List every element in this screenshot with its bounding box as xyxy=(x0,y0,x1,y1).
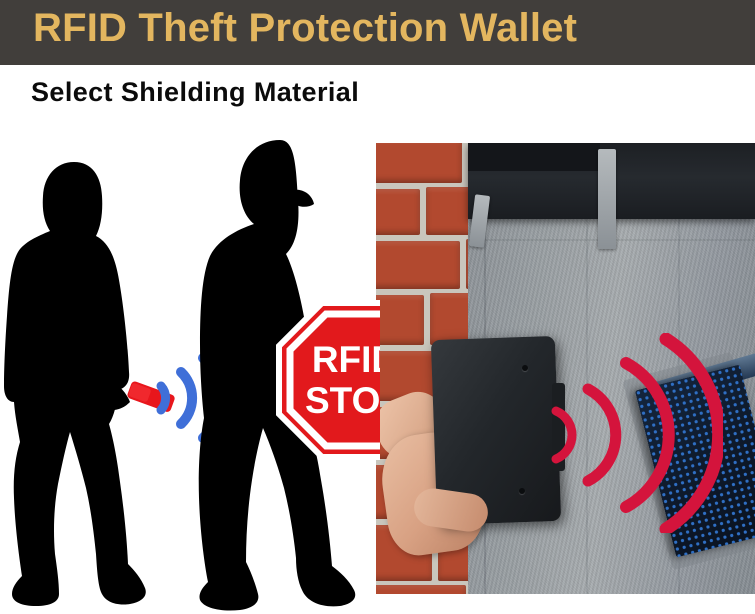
product-banner: RFID Theft Protection Wallet Select Shie… xyxy=(0,0,755,614)
reader-screw-bottom xyxy=(519,488,525,494)
page-title: RFID Theft Protection Wallet xyxy=(33,6,577,51)
product-photo xyxy=(376,143,755,594)
header-bar: RFID Theft Protection Wallet xyxy=(0,0,755,65)
section-subtitle: Select Shielding Material xyxy=(31,77,359,108)
shirt-hem xyxy=(468,143,600,171)
rfid-stop-sign: RFID STOP xyxy=(276,300,380,460)
reader-screw-top xyxy=(522,365,528,371)
belt-loop-center xyxy=(598,149,616,249)
octagon-shape-icon xyxy=(276,300,380,460)
rfid-theft-illustration: RFID STOP xyxy=(0,130,380,614)
blocked-signal-waves-icon xyxy=(548,333,723,533)
